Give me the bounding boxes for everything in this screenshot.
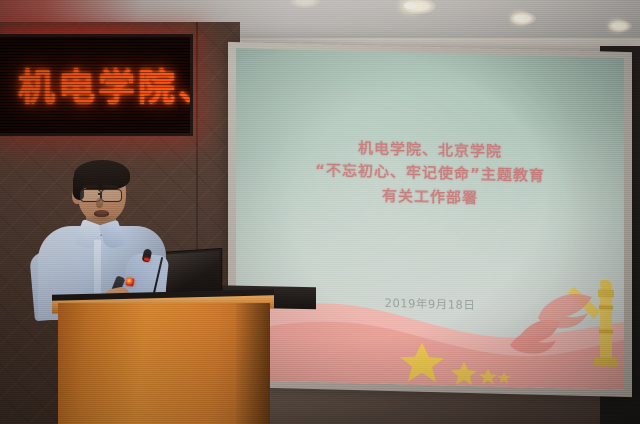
led-marquee-text: 机电学院、	[18, 57, 193, 111]
lectern-side-shadow	[236, 303, 270, 424]
party-emblem-lapel-pin	[125, 277, 134, 286]
ceiling-downlight-2	[514, 15, 525, 21]
screen-vignette	[236, 48, 624, 390]
speaker-nose	[96, 198, 103, 208]
overhead-led-marquee: 机电学院、	[0, 34, 193, 136]
presentation-photo-scene: 机电学院、 机电学院、北京学院 “	[0, 0, 640, 424]
speaker-chin-shadow	[84, 214, 120, 223]
ceiling-downlight-1	[404, 2, 417, 9]
ceiling-downlight-3	[612, 23, 622, 28]
glasses-lens-right	[101, 189, 122, 202]
glasses-bridge	[98, 193, 102, 195]
projection-screen: 机电学院、北京学院 “不忘初心、牢记使命”主题教育 有关工作部署 2019年9月…	[236, 48, 624, 390]
